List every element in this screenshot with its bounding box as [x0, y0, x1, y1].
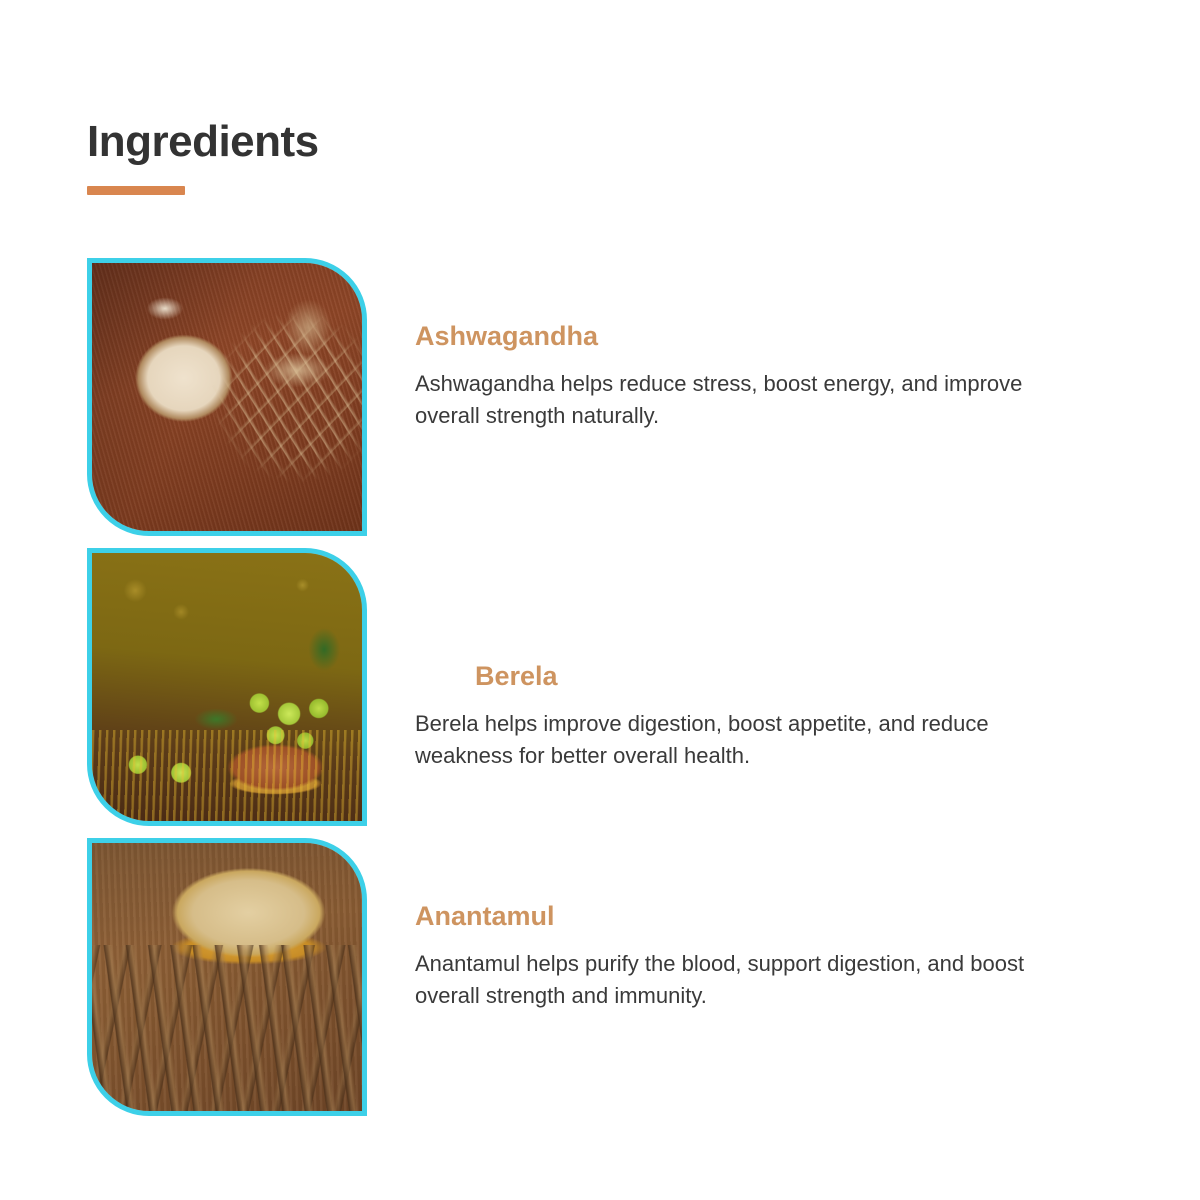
- ingredient-image-card: [87, 548, 367, 826]
- ashwagandha-photo: [92, 263, 362, 531]
- ingredient-row: Ashwagandha Ashwagandha helps reduce str…: [0, 258, 1200, 548]
- ingredient-row: Anantamul Anantamul helps purify the blo…: [0, 838, 1200, 1128]
- page-title: Ingredients: [87, 118, 319, 166]
- ingredient-list: Ashwagandha Ashwagandha helps reduce str…: [0, 258, 1200, 1128]
- ingredient-image-card: [87, 258, 367, 536]
- anantamul-photo: [92, 843, 362, 1111]
- title-underline-rule: [87, 186, 185, 195]
- ingredient-name: Berela: [415, 660, 1105, 692]
- ingredients-page: Ingredients Ashwagandha Ashwagandha help…: [0, 0, 1200, 1200]
- ingredient-text-block: Anantamul Anantamul helps purify the blo…: [415, 900, 1105, 1012]
- ingredient-text-block: Ashwagandha Ashwagandha helps reduce str…: [415, 320, 1105, 432]
- ingredient-name: Anantamul: [415, 900, 1105, 932]
- ingredient-name: Ashwagandha: [415, 320, 1105, 352]
- page-header: Ingredients: [87, 118, 319, 195]
- ingredient-description: Ashwagandha helps reduce stress, boost e…: [415, 368, 1055, 432]
- berela-photo: [92, 553, 362, 821]
- ingredient-row: Berela Berela helps improve digestion, b…: [0, 548, 1200, 838]
- ingredient-image-card: [87, 838, 367, 1116]
- ingredient-description: Anantamul helps purify the blood, suppor…: [415, 948, 1030, 1012]
- ingredient-text-block: Berela Berela helps improve digestion, b…: [415, 660, 1105, 772]
- ingredient-description: Berela helps improve digestion, boost ap…: [415, 708, 1030, 772]
